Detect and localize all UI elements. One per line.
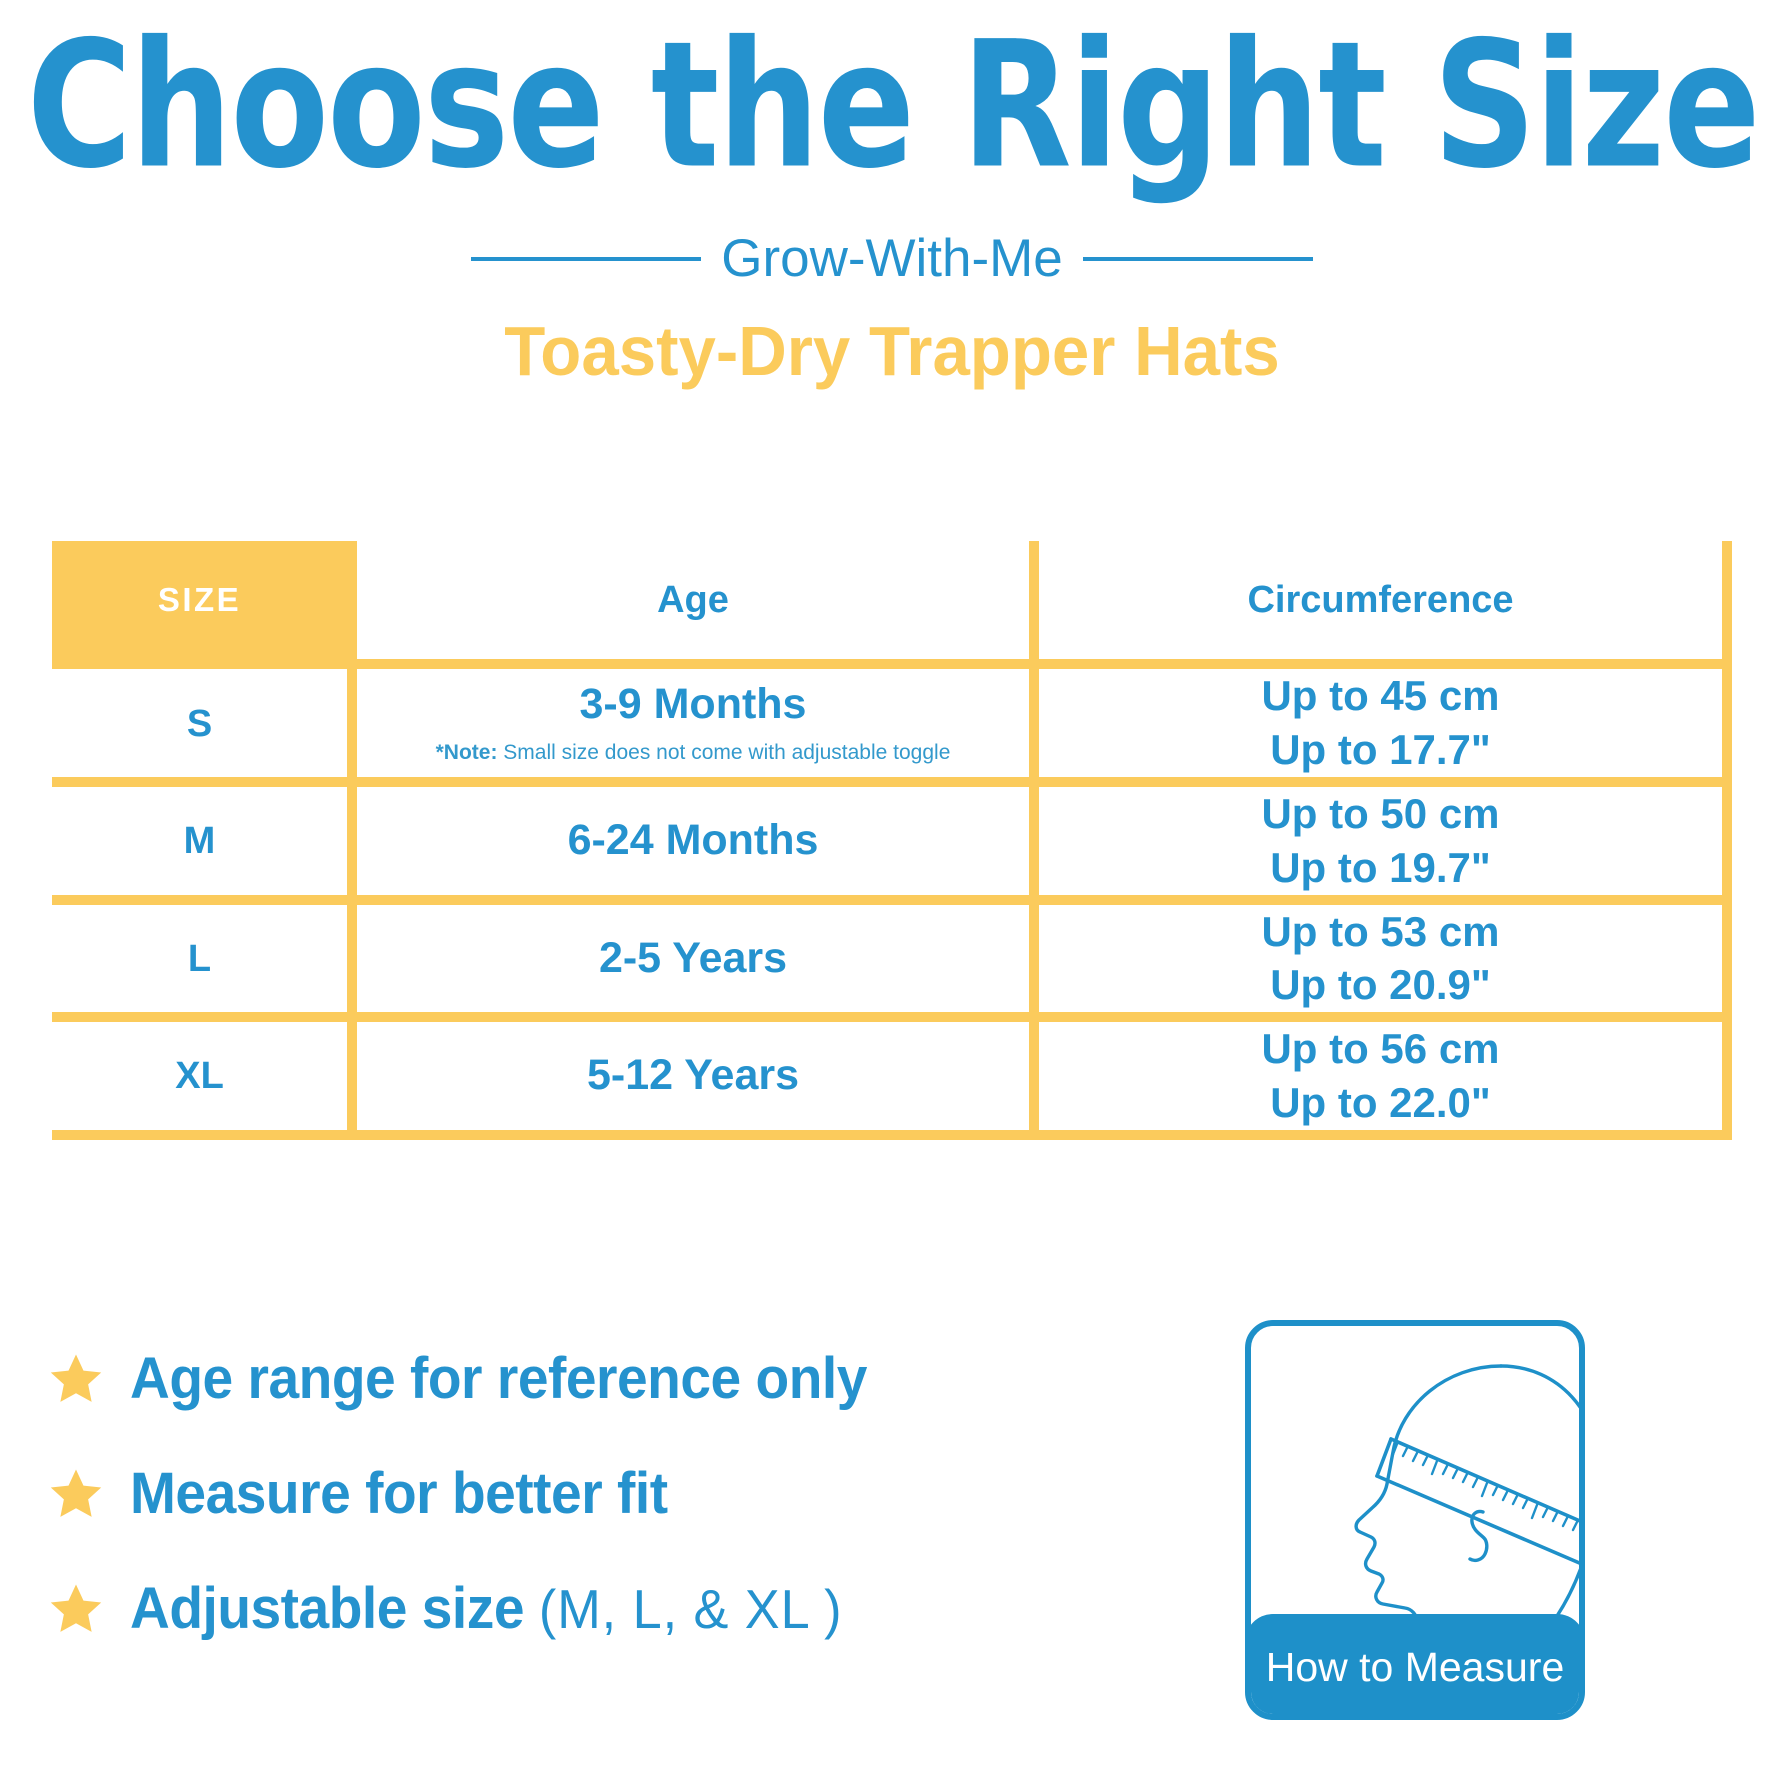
row-circ-in: Up to 17.7"	[1039, 723, 1722, 777]
row-size-label: L	[52, 905, 347, 1013]
grid-divider	[1722, 669, 1732, 777]
row-circ-cm: Up to 50 cm	[1039, 787, 1722, 841]
grid-divider	[1722, 541, 1732, 659]
subtitle-rule-left	[471, 257, 701, 261]
column-header-size: SIZE	[52, 541, 347, 659]
table-row: XL 5-12 Years Up to 56 cm Up to 22.0"	[52, 1022, 1732, 1130]
grid-divider	[1029, 541, 1039, 659]
column-header-circumference: Circumference	[1039, 541, 1722, 659]
star-icon	[48, 1351, 104, 1407]
infographic-header: Choose the Right Size Grow-With-Me Toast…	[0, 0, 1784, 391]
column-header-age: Age	[357, 541, 1029, 659]
grid-divider	[52, 1012, 1732, 1022]
row-age-value: 3-9 Months	[357, 681, 1029, 728]
list-item-label: Adjustable size (M, L, & XL )	[130, 1575, 843, 1642]
note-label: *Note:	[436, 741, 498, 764]
row-circ-in: Up to 20.9"	[1039, 958, 1722, 1012]
list-item-label: Age range for reference only	[130, 1345, 867, 1412]
row-circumference-cell: Up to 45 cm Up to 17.7"	[1039, 669, 1722, 777]
grid-divider	[1722, 1022, 1732, 1130]
row-size-label: M	[52, 787, 347, 895]
grid-divider	[1029, 1022, 1039, 1130]
grid-divider-row	[52, 895, 1732, 905]
bullet-text-main: Measure for better fit	[130, 1461, 668, 1526]
table-row: S 3-9 Months *Note: Small size does not …	[52, 669, 1732, 777]
how-to-measure-label: How to Measure	[1245, 1614, 1585, 1720]
row-age-cell: 2-5 Years	[357, 905, 1029, 1013]
size-chart-table: SIZE Age Circumference S 3-9 Months *Not…	[52, 541, 1732, 1140]
row-circ-in: Up to 22.0"	[1039, 1076, 1722, 1130]
grid-divider	[347, 905, 357, 1013]
grid-divider	[52, 1130, 1732, 1140]
feature-bullet-list: Age range for reference only Measure for…	[48, 1345, 1068, 1690]
list-item-label: Measure for better fit	[130, 1460, 668, 1527]
page-title: Choose the Right Size	[27, 18, 1757, 193]
bullet-text-main: Adjustable size	[130, 1576, 524, 1641]
bullet-text-suffix: (M, L, & XL )	[539, 1578, 843, 1640]
row-age-value: 5-12 Years	[357, 1052, 1029, 1099]
row-circ-cm: Up to 45 cm	[1039, 669, 1722, 723]
grid-divider	[52, 659, 1732, 669]
grid-divider-row	[52, 1130, 1732, 1140]
list-item: Age range for reference only	[48, 1345, 1068, 1412]
table-header-row: SIZE Age Circumference	[52, 541, 1732, 659]
row-age-cell: 3-9 Months *Note: Small size does not co…	[357, 669, 1029, 777]
star-icon	[48, 1581, 104, 1637]
row-age-cell: 6-24 Months	[357, 787, 1029, 895]
table-row: M 6-24 Months Up to 50 cm Up to 19.7"	[52, 787, 1732, 895]
grid-divider-row	[52, 659, 1732, 669]
grid-divider-row	[52, 777, 1732, 787]
star-icon	[48, 1466, 104, 1522]
grid-divider	[1029, 669, 1039, 777]
grid-divider	[1722, 905, 1732, 1013]
row-size-label: S	[52, 669, 347, 777]
subtitle-text: Grow-With-Me	[721, 228, 1063, 289]
how-to-measure-panel[interactable]: How to Measure	[1245, 1320, 1585, 1720]
row-circumference-cell: Up to 56 cm Up to 22.0"	[1039, 1022, 1722, 1130]
grid-divider	[347, 669, 357, 777]
product-title: Toasty-Dry Trapper Hats	[36, 311, 1749, 391]
row-circumference-cell: Up to 53 cm Up to 20.9"	[1039, 905, 1722, 1013]
note-text: Small size does not come with adjustable…	[497, 741, 950, 764]
grid-divider	[52, 777, 1732, 787]
subtitle-rule-right	[1083, 257, 1313, 261]
list-item: Adjustable size (M, L, & XL )	[48, 1575, 1068, 1642]
bullet-text-main: Age range for reference only	[130, 1346, 867, 1411]
row-age-note: *Note: Small size does not come with adj…	[357, 741, 1029, 765]
grid-divider	[1029, 787, 1039, 895]
subtitle-row: Grow-With-Me	[0, 228, 1784, 289]
grid-divider	[1722, 787, 1732, 895]
row-circ-in: Up to 19.7"	[1039, 841, 1722, 895]
list-item: Measure for better fit	[48, 1460, 1068, 1527]
grid-divider	[1029, 905, 1039, 1013]
table-row: L 2-5 Years Up to 53 cm Up to 20.9"	[52, 905, 1732, 1013]
row-size-label: XL	[52, 1022, 347, 1130]
row-age-value: 6-24 Months	[357, 817, 1029, 864]
row-circumference-cell: Up to 50 cm Up to 19.7"	[1039, 787, 1722, 895]
row-circ-cm: Up to 56 cm	[1039, 1022, 1722, 1076]
grid-divider-row	[52, 1012, 1732, 1022]
grid-divider	[347, 787, 357, 895]
row-age-value: 2-5 Years	[357, 935, 1029, 982]
grid-divider	[347, 541, 357, 659]
grid-divider	[347, 1022, 357, 1130]
grid-divider	[52, 895, 1732, 905]
row-circ-cm: Up to 53 cm	[1039, 905, 1722, 959]
row-age-cell: 5-12 Years	[357, 1022, 1029, 1130]
